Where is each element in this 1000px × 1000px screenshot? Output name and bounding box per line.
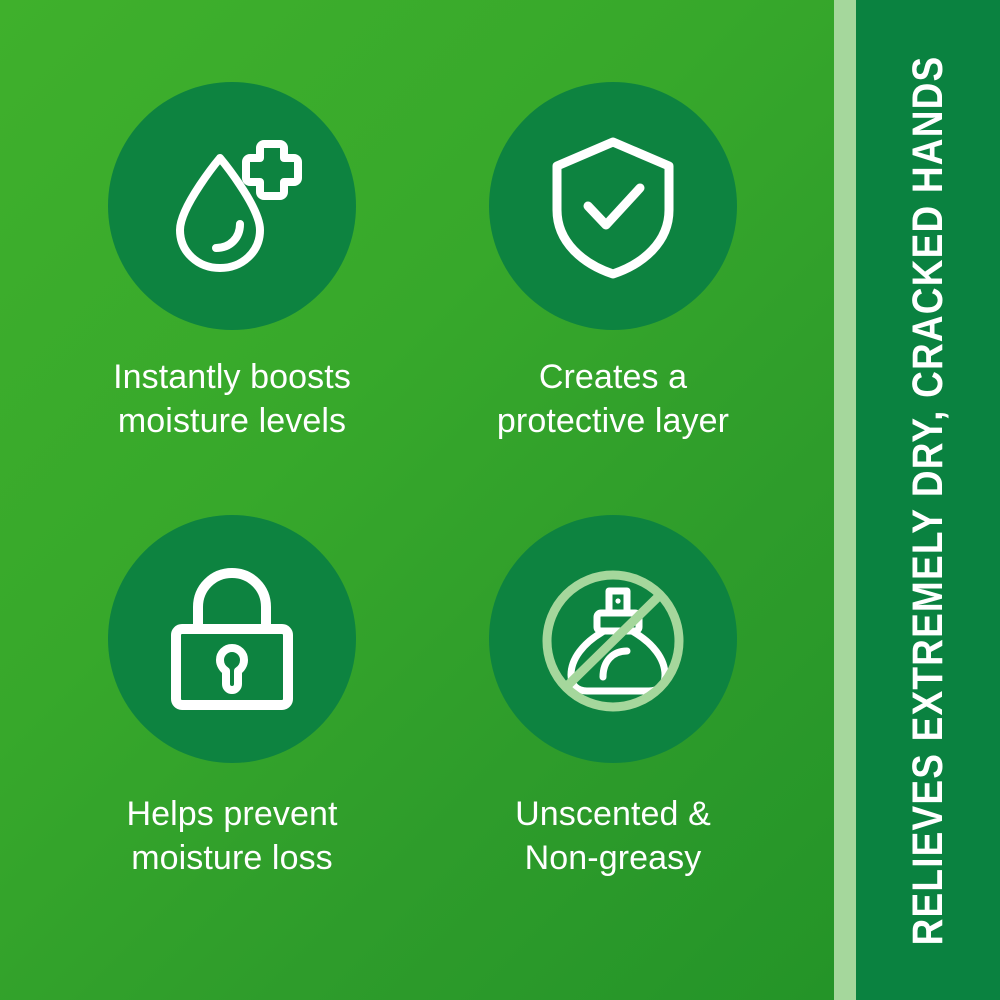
icon-disc (108, 515, 356, 763)
promo-graphic: RELIEVES EXTREMELY DRY, CRACKED HANDS In… (0, 0, 1000, 1000)
feature-item-moisture-boost: Instantly boosts moisture levels (42, 82, 422, 443)
feature-caption: Helps prevent moisture loss (42, 793, 422, 880)
banner-label: RELIEVES EXTREMELY DRY, CRACKED HANDS (907, 55, 950, 945)
feature-item-unscented: Unscented & Non-greasy (423, 515, 803, 880)
no-fragrance-icon (525, 551, 701, 727)
feature-caption: Instantly boosts moisture levels (42, 356, 422, 443)
shield-check-icon (533, 126, 693, 286)
feature-grid: Instantly boosts moisture levels Creates… (0, 0, 834, 1000)
icon-disc (108, 82, 356, 330)
water-drop-plus-icon (152, 126, 312, 286)
icon-disc (489, 82, 737, 330)
padlock-icon (152, 559, 312, 719)
icon-disc (489, 515, 737, 763)
feature-item-moisture-lock: Helps prevent moisture loss (42, 515, 422, 880)
feature-caption: Unscented & Non-greasy (423, 793, 803, 880)
feature-item-protective-layer: Creates a protective layer (423, 82, 803, 443)
accent-stripe (834, 0, 856, 1000)
vertical-banner: RELIEVES EXTREMELY DRY, CRACKED HANDS (856, 0, 1000, 1000)
feature-caption: Creates a protective layer (423, 356, 803, 443)
